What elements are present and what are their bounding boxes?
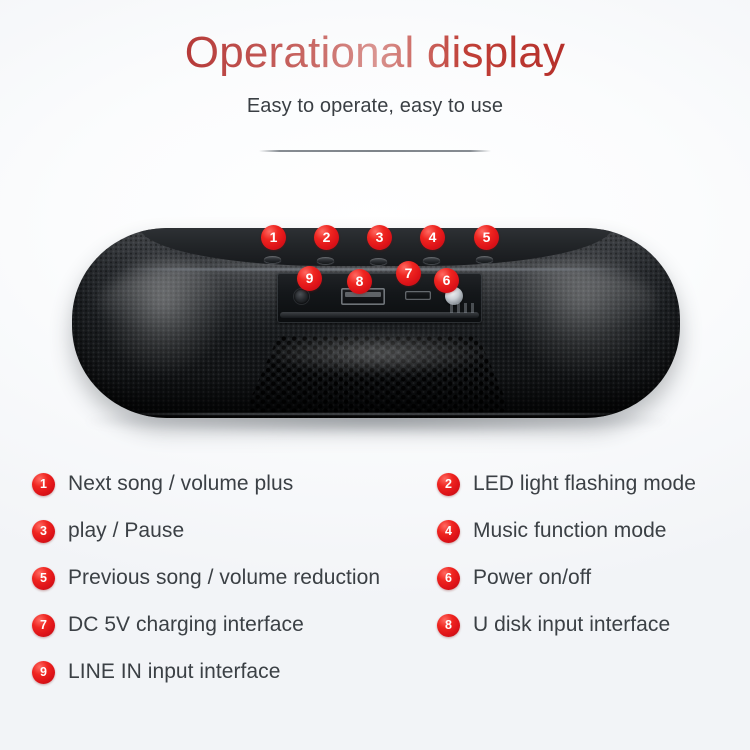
panel-ribs — [450, 303, 476, 313]
legend-label-3: play / Pause — [68, 519, 184, 543]
legend-label-8: U disk input interface — [473, 613, 670, 637]
page-subtitle: Easy to operate, easy to use — [0, 77, 750, 118]
line-in-jack[interactable] — [294, 289, 309, 304]
legend-item-9[interactable]: 9 LINE IN input interface — [32, 660, 280, 684]
legend-item-1[interactable]: 1 Next song / volume plus — [32, 472, 293, 496]
legend-item-3[interactable]: 3 play / Pause — [32, 519, 184, 543]
top-button-play[interactable] — [370, 258, 387, 265]
legend-badge-8: 8 — [437, 614, 460, 637]
legend-badge-7: 7 — [32, 614, 55, 637]
legend-item-8[interactable]: 8 U disk input interface — [437, 613, 670, 637]
page-title: Operational display — [0, 0, 750, 77]
callout-badge-8[interactable]: 8 — [347, 269, 372, 294]
legend-label-4: Music function mode — [473, 519, 667, 543]
legend-badge-2: 2 — [437, 473, 460, 496]
speaker-gloss-left — [102, 255, 224, 373]
legend-list: 1 Next song / volume plus 2 LED light fl… — [0, 472, 750, 742]
legend-label-1: Next song / volume plus — [68, 472, 293, 496]
legend-badge-1: 1 — [32, 473, 55, 496]
legend-item-4[interactable]: 4 Music function mode — [437, 519, 667, 543]
legend-badge-9: 9 — [32, 661, 55, 684]
callout-badge-9[interactable]: 9 — [297, 266, 322, 291]
callout-badge-2[interactable]: 2 — [314, 225, 339, 250]
legend-item-5[interactable]: 5 Previous song / volume reduction — [32, 566, 380, 590]
legend-badge-5: 5 — [32, 567, 55, 590]
infographic-page: Operational display Easy to operate, eas… — [0, 0, 750, 750]
speaker-body — [72, 228, 680, 418]
speaker-product-photo — [72, 228, 680, 418]
callout-badge-1[interactable]: 1 — [261, 225, 286, 250]
legend-item-6[interactable]: 6 Power on/off — [437, 566, 591, 590]
header-divider — [259, 150, 491, 152]
legend-badge-3: 3 — [32, 520, 55, 543]
speaker-bottom-rim-light — [108, 413, 643, 415]
legend-label-7: DC 5V charging interface — [68, 613, 304, 637]
legend-item-7[interactable]: 7 DC 5V charging interface — [32, 613, 304, 637]
callout-badge-6[interactable]: 6 — [434, 268, 459, 293]
top-button-music[interactable] — [423, 257, 440, 264]
top-button-led[interactable] — [317, 257, 334, 264]
top-button-previous[interactable] — [476, 256, 493, 263]
top-button-next[interactable] — [264, 256, 281, 263]
legend-item-2[interactable]: 2 LED light flashing mode — [437, 472, 696, 496]
legend-badge-4: 4 — [437, 520, 460, 543]
header: Operational display Easy to operate, eas… — [0, 0, 750, 118]
legend-badge-6: 6 — [437, 567, 460, 590]
product-image-stage: 1 2 3 4 5 9 8 7 6 — [0, 200, 750, 465]
legend-label-5: Previous song / volume reduction — [68, 566, 380, 590]
callout-badge-7[interactable]: 7 — [396, 261, 421, 286]
legend-label-9: LINE IN input interface — [68, 660, 280, 684]
speaker-deck-edge — [121, 268, 632, 271]
speaker-bottom-shading — [72, 372, 680, 418]
callout-badge-5[interactable]: 5 — [474, 225, 499, 250]
callout-badge-4[interactable]: 4 — [420, 225, 445, 250]
micro-usb-port[interactable] — [405, 291, 431, 300]
legend-label-2: LED light flashing mode — [473, 472, 696, 496]
legend-label-6: Power on/off — [473, 566, 591, 590]
callout-badge-3[interactable]: 3 — [367, 225, 392, 250]
